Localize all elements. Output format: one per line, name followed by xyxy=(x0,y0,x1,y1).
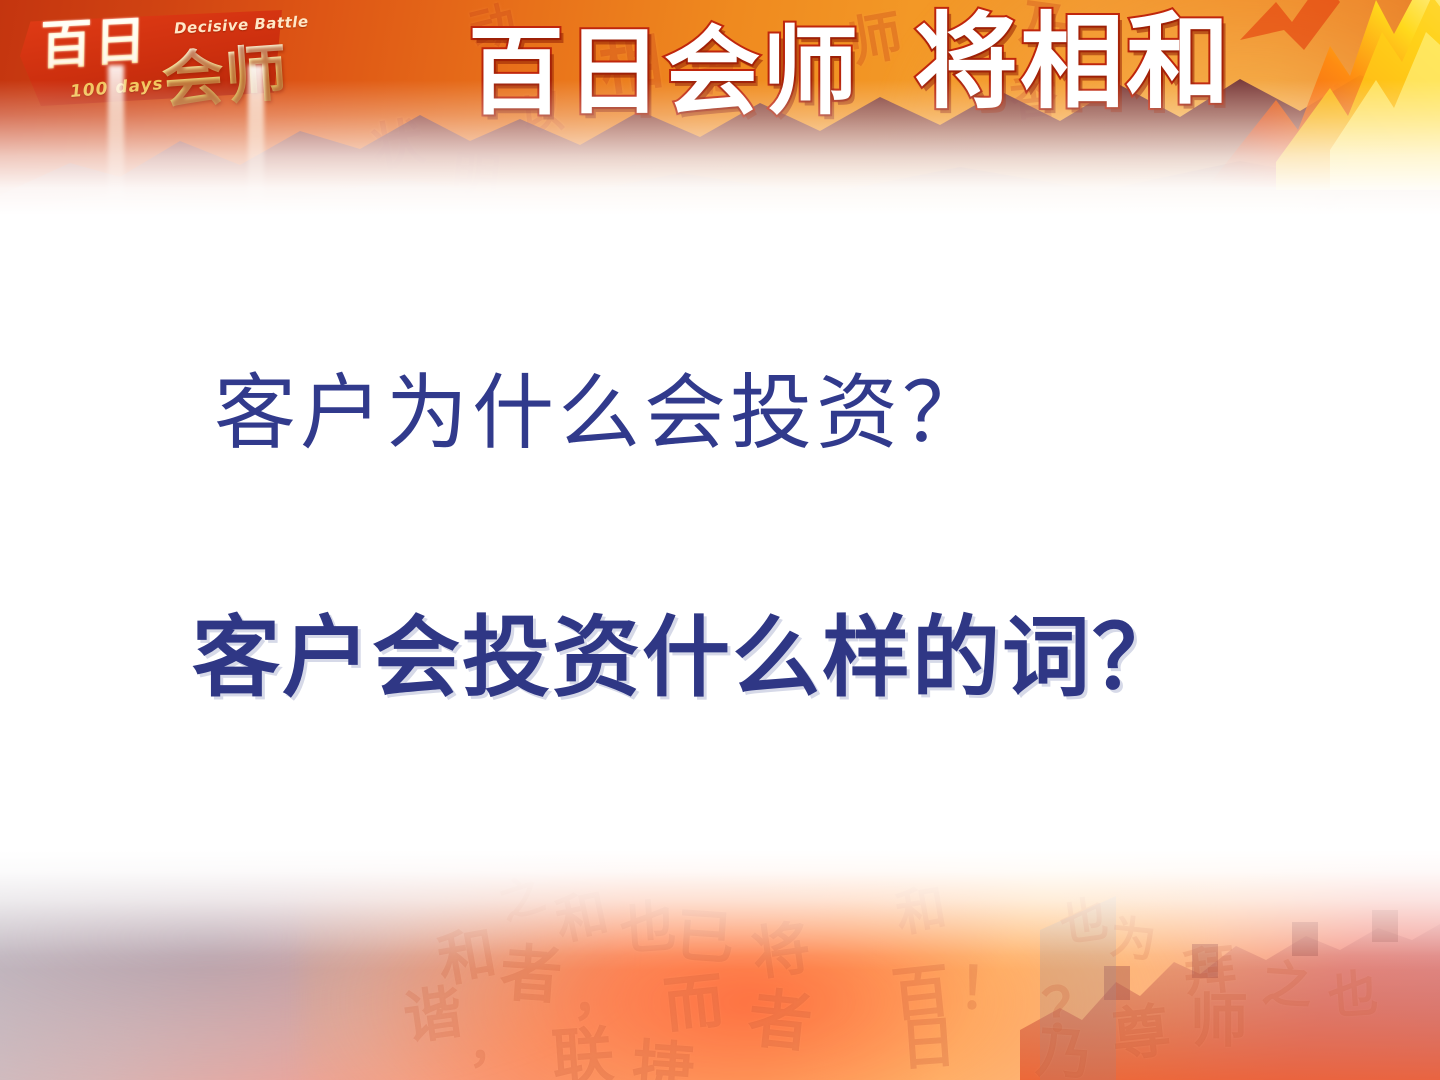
slide-content: 客户为什么会投资？ 客户会投资什么样的词？ xyxy=(0,215,1440,895)
question-line-two: 客户会投资什么样的词？ xyxy=(192,610,1182,705)
footer-white-fade xyxy=(0,850,1440,970)
banner-white-fade xyxy=(0,80,1440,215)
footer-decoration: 之和也已将和也为和者，而者百！？日乃谐，联捷尊师拜之也 xyxy=(0,850,1440,1080)
header-banner: 动相也师乃香之也者状明以 xyxy=(0,0,1440,215)
question-line-one: 客户为什么会投资？ xyxy=(214,370,988,459)
logo-title-first: 百日 xyxy=(40,15,149,73)
slide-canvas: 动相也师乃香之也者状明以 xyxy=(0,0,1440,1080)
